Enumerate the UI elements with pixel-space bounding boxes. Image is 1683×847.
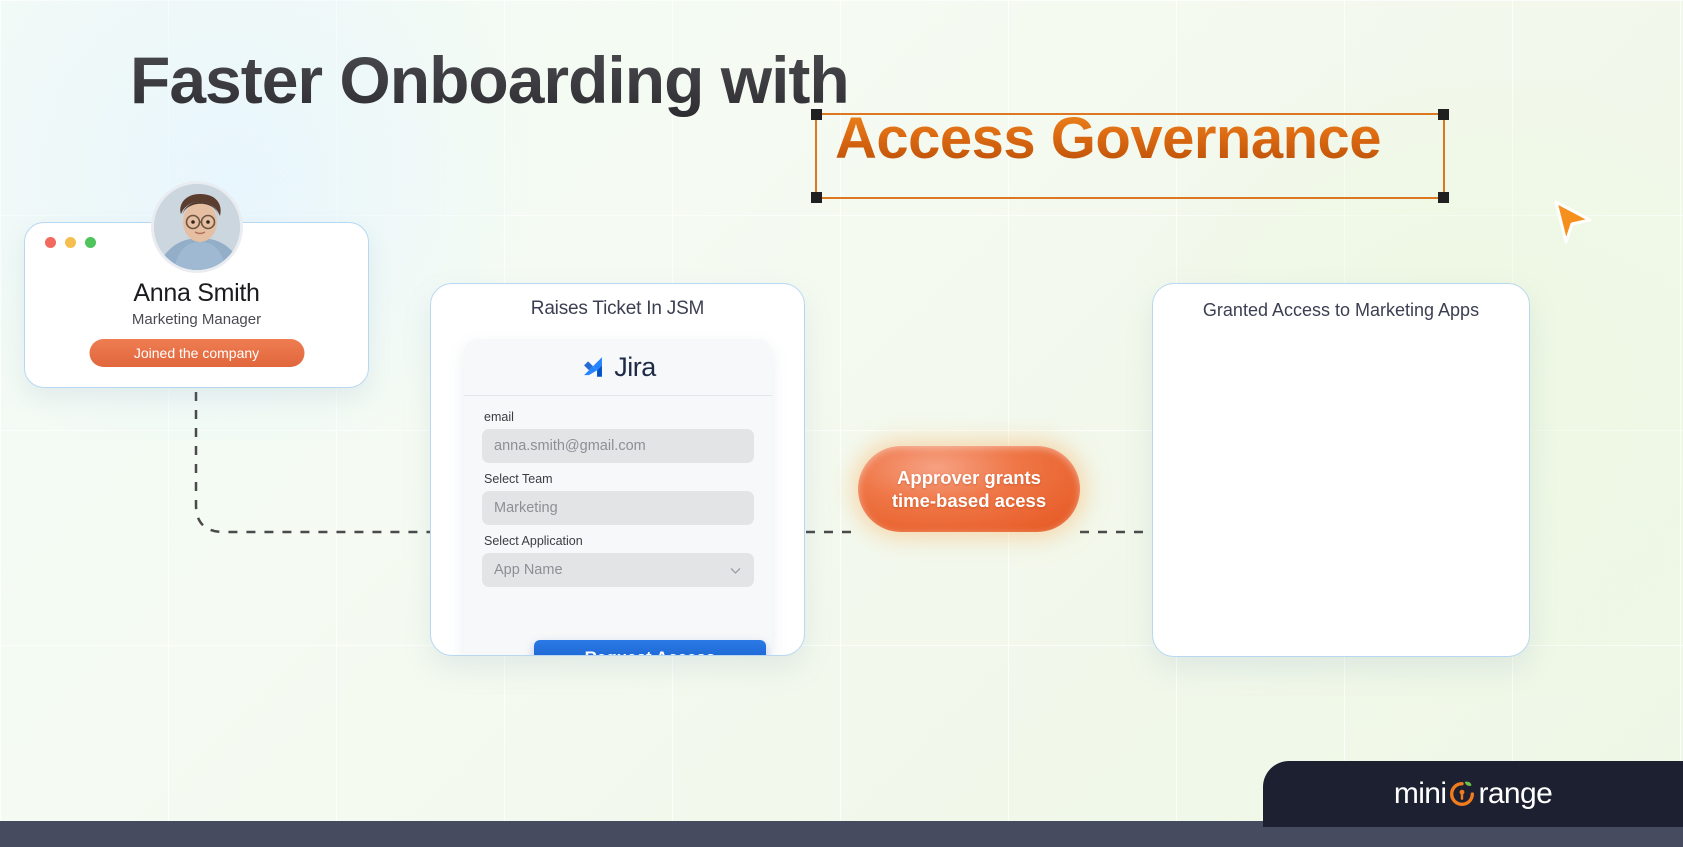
request-access-button[interactable]: Request Access [534,640,766,656]
cursor-arrow-icon [1552,198,1596,246]
approver-line-2: time-based acess [892,490,1046,511]
form-group-application: Select Application App Name [482,534,754,587]
jsm-card-title: Raises Ticket In JSM [431,298,804,320]
application-select-value: App Name [494,562,563,578]
traffic-light-red[interactable] [45,237,56,248]
resize-handle-top-right[interactable] [1438,109,1449,120]
form-group-team: Select Team Marketing [482,472,754,525]
employee-profile-card: Anna Smith Marketing Manager Joined the … [24,222,369,388]
status-badge: Joined the company [89,339,304,367]
orange-lock-icon [1447,779,1477,809]
jira-brand-header: Jira [464,339,772,396]
access-request-form: email anna.smith@gmail.com Select Team M… [464,396,772,587]
brand-footer: mini range [1263,761,1683,827]
application-field-label: Select Application [484,534,754,548]
team-field-label: Select Team [484,472,754,486]
form-group-email: email anna.smith@gmail.com [482,410,754,463]
accent-title: Access Governance [835,105,1381,172]
jira-logo-icon [580,354,606,380]
window-traffic-lights [45,237,96,248]
selection-box[interactable]: Access Governance [815,113,1445,199]
granted-access-card: Granted Access to Marketing Apps Applica… [1152,283,1530,657]
approver-line-1: Approver grants [897,467,1041,488]
page-title: Faster Onboarding with [130,42,849,118]
miniorange-logo: mini range [1394,777,1552,811]
chevron-down-icon [729,564,742,577]
email-field[interactable]: anna.smith@gmail.com [482,429,754,463]
team-field[interactable]: Marketing [482,491,754,525]
email-field-label: email [484,410,754,424]
resize-handle-top-left[interactable] [811,109,822,120]
jira-wordmark: Jira [614,352,656,383]
approver-status-pill: Approver grants time-based acess [858,446,1080,532]
granted-access-title: Granted Access to Marketing Apps [1153,300,1529,321]
profile-name: Anna Smith [25,279,368,308]
brand-suffix: range [1478,777,1552,811]
traffic-light-green[interactable] [85,237,96,248]
jsm-ticket-card: Raises Ticket In JSM Jira email anna.smi… [430,283,805,656]
profile-role: Marketing Manager [25,311,368,328]
resize-handle-bottom-right[interactable] [1438,192,1449,203]
avatar [151,181,243,273]
application-select[interactable]: App Name [482,553,754,587]
resize-handle-bottom-left[interactable] [811,192,822,203]
brand-prefix: mini [1394,777,1447,811]
jira-form-panel: Jira email anna.smith@gmail.com Select T… [464,339,772,656]
traffic-light-yellow[interactable] [65,237,76,248]
